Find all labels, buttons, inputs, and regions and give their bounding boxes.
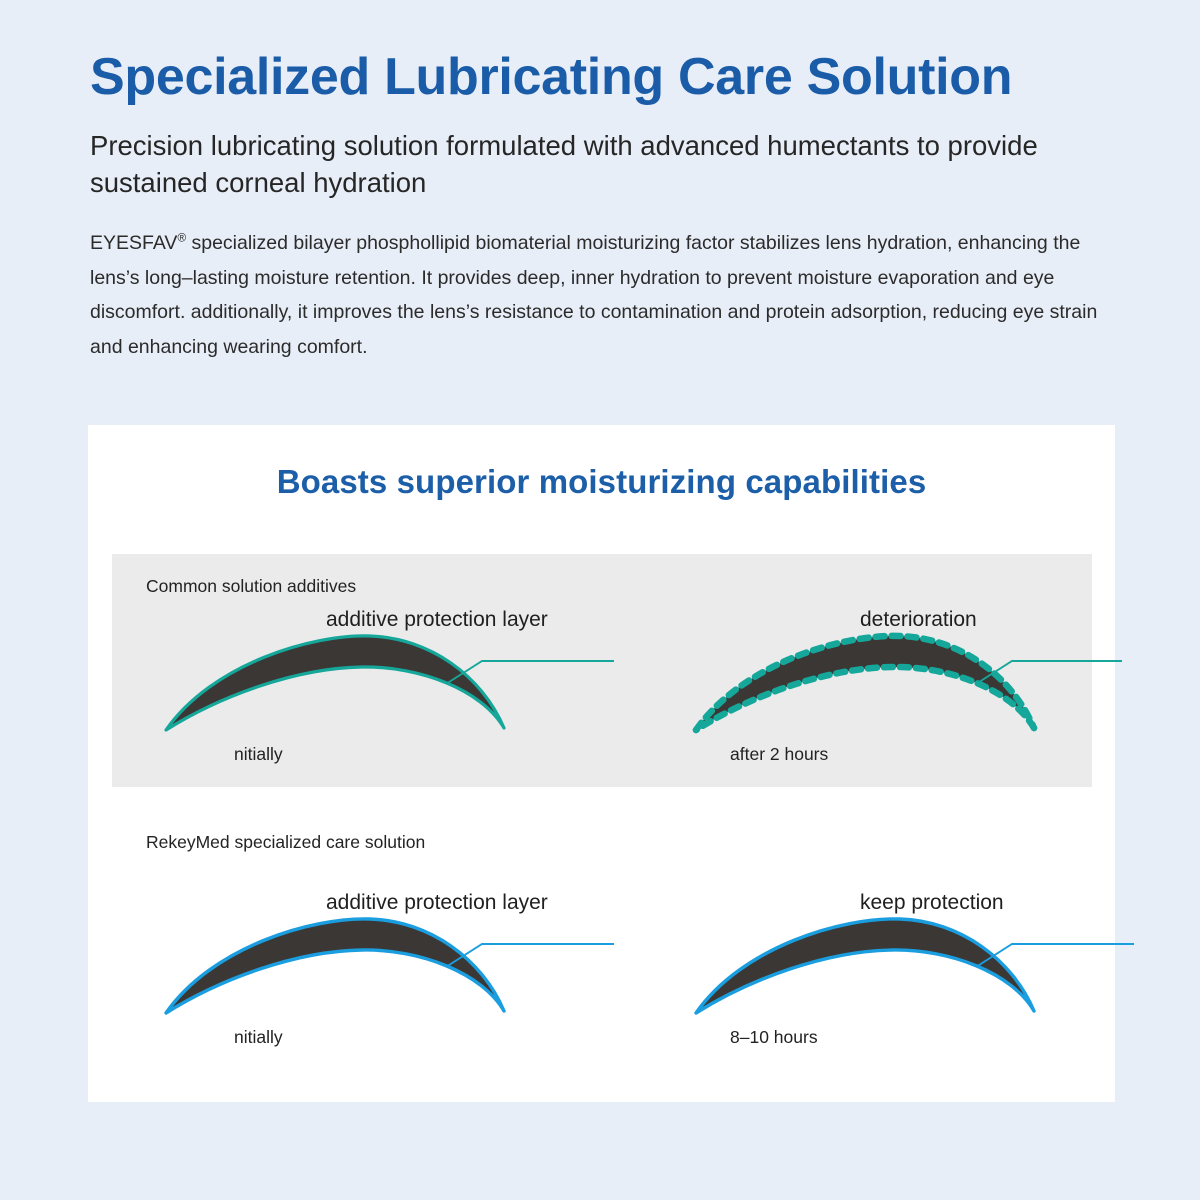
body-paragraph-text: specialized bilayer phosphollipid biomat… — [90, 232, 1097, 358]
lens-annotation: additive protection layer — [326, 608, 548, 632]
registered-mark: ® — [177, 231, 186, 244]
lens-caption: nitially — [234, 744, 283, 765]
lens-figure-common-initial: additive protection layer nitially — [152, 606, 622, 796]
panel-common-additives: Common solution additives additive prote… — [112, 554, 1092, 787]
page-title: Specialized Lubricating Care Solution — [90, 48, 1150, 106]
lens-row-rekeymed: additive protection layer nitially keep … — [112, 787, 1092, 1087]
lens-annotation: deterioration — [860, 608, 977, 632]
page-subtitle: Precision lubricating solution formulate… — [90, 128, 1148, 201]
lens-diagram-deteriorated-teal — [682, 606, 1152, 796]
lens-figure-rekeymed-after: keep protection 8–10 hours — [682, 889, 1152, 1079]
lens-caption: after 2 hours — [730, 744, 828, 765]
lens-diagram-protected-blue — [682, 889, 1152, 1079]
lens-row-common: additive protection layer nitially deter… — [112, 554, 1092, 787]
lens-caption: 8–10 hours — [730, 1027, 818, 1048]
card-heading: Boasts superior moisturizing capabilitie… — [88, 463, 1115, 501]
lens-body — [696, 919, 1034, 1013]
lens-caption: nitially — [234, 1027, 283, 1048]
lens-figure-rekeymed-initial: additive protection layer nitially — [152, 889, 622, 1079]
lens-body — [166, 919, 504, 1013]
brand-name: EYESFAV — [90, 232, 177, 254]
panel-rekeymed-solution: RekeyMed specialized care solution addit… — [112, 787, 1092, 1087]
lens-figure-common-after: deterioration after 2 hours — [682, 606, 1152, 796]
body-paragraph: EYESFAV® specialized bilayer phosphollip… — [90, 226, 1132, 365]
header-block: Specialized Lubricating Care Solution Pr… — [90, 48, 1150, 365]
product-feature-page: Specialized Lubricating Care Solution Pr… — [0, 0, 1200, 1200]
lens-body — [166, 636, 504, 730]
lens-diagram-intact-blue — [152, 889, 622, 1079]
lens-annotation: keep protection — [860, 891, 1004, 915]
lens-annotation: additive protection layer — [326, 891, 548, 915]
comparison-card: Boasts superior moisturizing capabilitie… — [88, 425, 1115, 1102]
lens-diagram-intact-teal — [152, 606, 622, 796]
